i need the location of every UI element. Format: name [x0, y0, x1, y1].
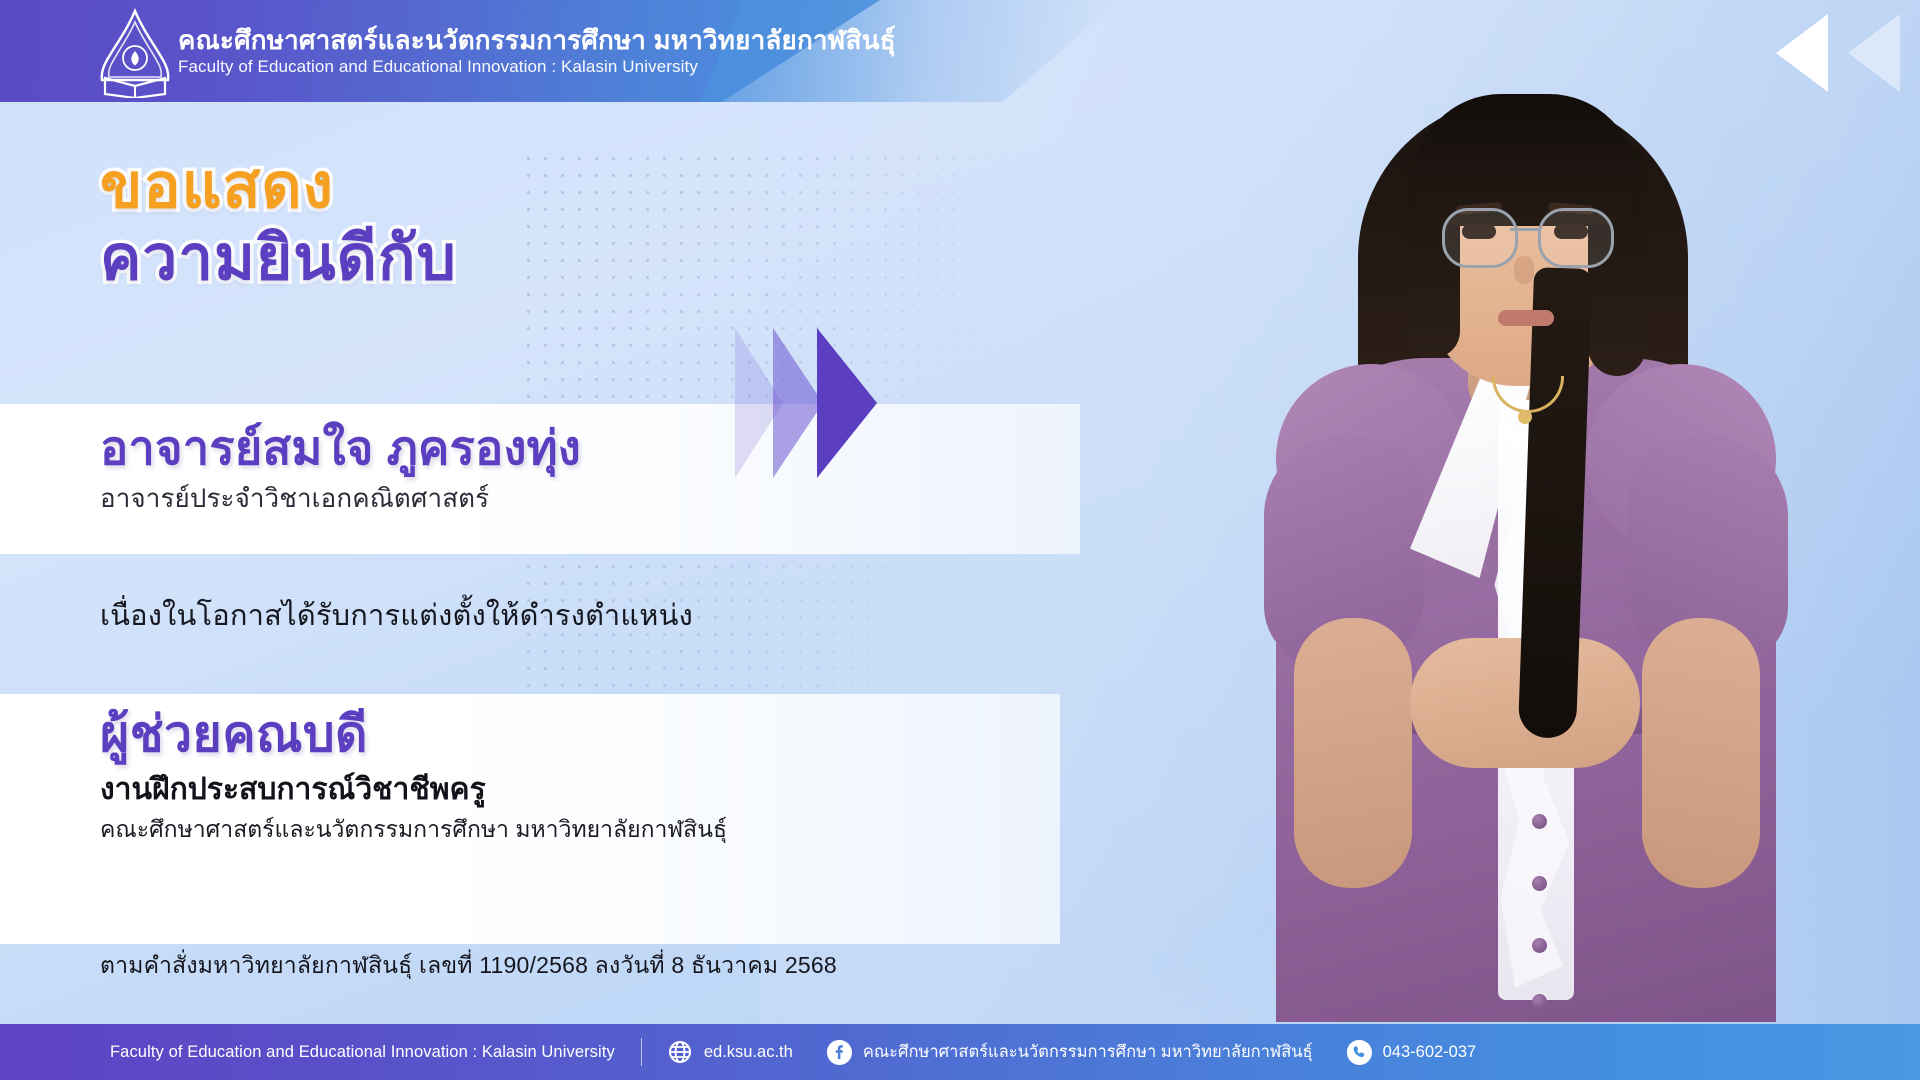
triple-chevron-right-icon — [735, 328, 905, 478]
footer-faculty-en: Faculty of Education and Educational Inn… — [110, 1043, 615, 1062]
portrait-forearm-right — [1642, 618, 1760, 888]
decree-reference: ตามคำสั่งมหาวิทยาลัยกาฬสินธุ์ เลขที่ 119… — [100, 948, 837, 984]
position-title: ผู้ช่วยคณบดี — [100, 705, 727, 764]
footer-phone-text: 043-602-037 — [1383, 1044, 1477, 1061]
portrait-forearm-left — [1294, 618, 1412, 888]
portrait-hair-top — [1413, 94, 1637, 226]
portrait-button — [1532, 876, 1547, 891]
footer-phone[interactable]: 043-602-037 — [1347, 1040, 1477, 1065]
banner-canvas: คณะศึกษาศาสตร์และนวัตกรรมการศึกษา มหาวิท… — [0, 0, 1920, 1080]
portrait-eyeglass-left — [1442, 208, 1518, 268]
facebook-icon — [827, 1040, 852, 1065]
globe-icon — [668, 1040, 693, 1065]
portrait-nose — [1514, 256, 1534, 284]
headline-group: ขอแสดง ความยินดีกับ — [100, 156, 457, 290]
headline-line-1: ขอแสดง — [100, 156, 457, 218]
occasion-text: เนื่องในโอกาสได้รับการแต่งตั้งให้ดำรงตำแ… — [100, 592, 693, 638]
portrait-button — [1532, 938, 1547, 953]
position-faculty: คณะศึกษาศาสตร์และนวัตกรรมการศึกษา มหาวิท… — [100, 814, 727, 845]
chevron-right-mid — [773, 328, 823, 478]
honoree-group: อาจารย์สมใจ ภูครองทุ่ง อาจารย์ประจำวิชาเ… — [100, 420, 581, 517]
phone-icon — [1347, 1040, 1372, 1065]
headline-line-2: ความยินดีกับ — [100, 228, 457, 290]
footer-website-text: ed.ksu.ac.th — [704, 1044, 793, 1061]
portrait-eyeglass-bridge — [1510, 228, 1540, 231]
footer-facebook-text: คณะศึกษาศาสตร์และนวัตกรรมการศึกษา มหาวิท… — [863, 1044, 1313, 1061]
footer-facebook[interactable]: คณะศึกษาศาสตร์และนวัตกรรมการศึกษา มหาวิท… — [827, 1040, 1313, 1065]
honoree-name: อาจารย์สมใจ ภูครองทุ่ง — [100, 420, 581, 475]
footer-divider — [641, 1038, 642, 1066]
portrait-pendant — [1518, 410, 1532, 424]
portrait-button — [1532, 814, 1547, 829]
portrait-button — [1532, 994, 1547, 1009]
chevron-right-solid — [817, 328, 877, 478]
portrait-eyeglass-right — [1538, 208, 1614, 268]
footer-website[interactable]: ed.ksu.ac.th — [668, 1040, 793, 1065]
position-group: ผู้ช่วยคณบดี งานฝึกประสบการณ์วิชาชีพครู … — [100, 705, 727, 845]
portrait-photo — [1080, 28, 1920, 1022]
honoree-role: อาจารย์ประจำวิชาเอกคณิตศาสตร์ — [100, 481, 581, 516]
position-unit: งานฝึกประสบการณ์วิชาชีพครู — [100, 770, 727, 809]
portrait-lips — [1498, 310, 1554, 326]
footer-bar: Faculty of Education and Educational Inn… — [0, 1024, 1920, 1080]
